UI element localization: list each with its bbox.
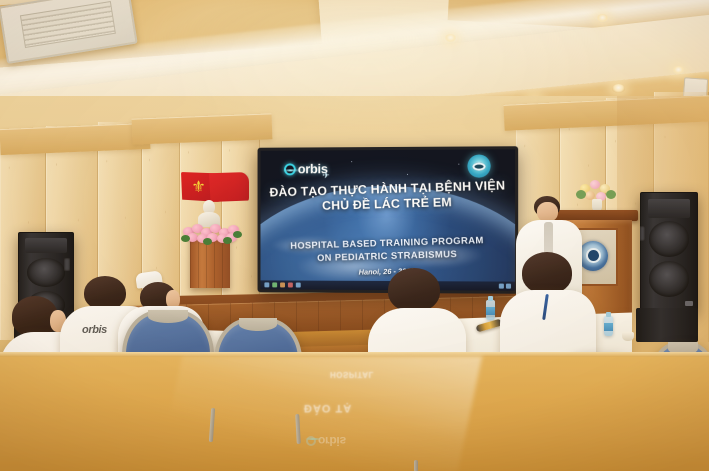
speaker-handle: [64, 258, 70, 271]
conference-hall-photo: ⚜ ★: [0, 0, 709, 471]
speaker-badge: [685, 301, 693, 306]
orbis-logo-text: orbis: [318, 434, 346, 448]
speaker-horn: [25, 238, 66, 253]
podium-flower-vase: [576, 180, 618, 212]
speaker-cone: [649, 221, 689, 256]
taskbar-icon[interactable]: [272, 282, 277, 287]
downlight-icon: [612, 84, 625, 93]
pa-speaker-right: [640, 192, 698, 312]
attendee-hair: [522, 252, 572, 294]
plane-icon: ✈: [322, 170, 329, 181]
chair-notch: [239, 318, 277, 331]
speaker-horn: [648, 199, 691, 218]
coat-orbis-text: orbis: [82, 324, 107, 336]
taskbar-icon[interactable]: [264, 282, 269, 287]
floor-reflected-text-hospital: HOSPITAL: [330, 370, 374, 379]
attendee-hair: [388, 268, 440, 312]
chair-notch: [148, 310, 188, 323]
speaker-cone: [649, 261, 689, 296]
ac-grille: [20, 1, 116, 48]
downlight-icon: [444, 34, 457, 43]
taskbar-icon[interactable]: [288, 283, 293, 288]
taskbar-icon[interactable]: [296, 283, 301, 288]
downlight-icon: [672, 66, 685, 75]
floor-reflected-orbis-logo: orbis: [306, 434, 346, 448]
orbis-logo: orbis ✈: [284, 161, 328, 176]
downlight-icon: [596, 14, 609, 23]
wall-beam: [132, 113, 273, 144]
speaker-handle: [640, 226, 645, 241]
pink-flower-arrangement: [181, 222, 241, 242]
water-bottle: [486, 300, 495, 320]
eye-icon: [467, 154, 490, 177]
orbis-globe-icon: [306, 436, 316, 446]
floor-reflected-text-dao-ta: ĐÀO TẠ: [304, 402, 352, 414]
bottle-label: [486, 307, 495, 315]
pa-subwoofer-right: [636, 308, 698, 342]
orbis-globe-icon: [284, 163, 296, 175]
presenter-face: [537, 202, 558, 222]
paper-cup: [622, 332, 634, 341]
vietnam-national-flag: ★: [209, 172, 249, 202]
hammer-and-sickle-icon: ⚜: [190, 180, 207, 195]
water-bottle: [604, 316, 613, 336]
taskbar-icon[interactable]: [280, 282, 285, 287]
chair-leg: [414, 460, 418, 471]
bottle-label: [604, 323, 613, 331]
